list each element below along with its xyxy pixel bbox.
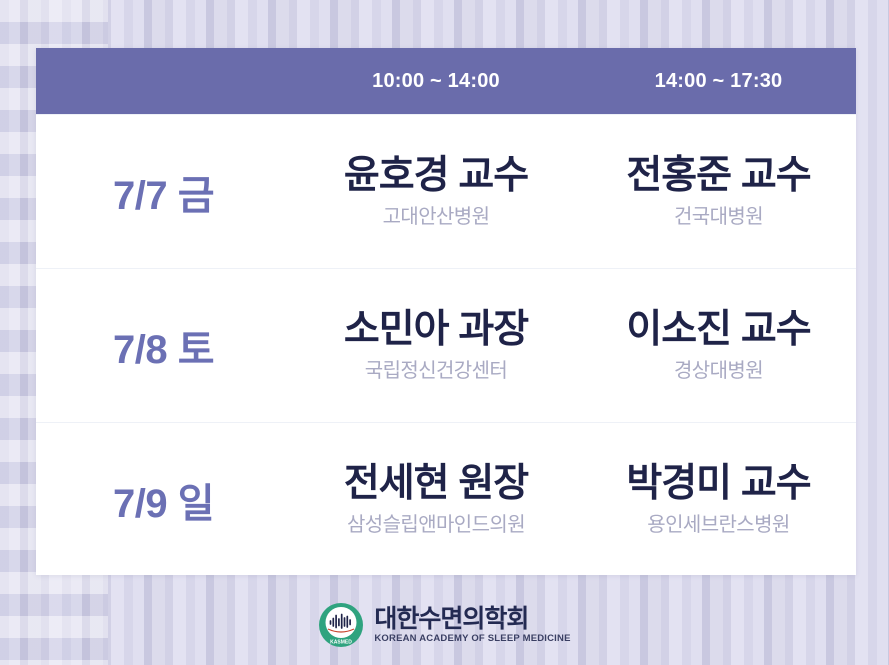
session-speaker: 전세현 원장 bbox=[344, 464, 528, 505]
session-affiliation: 삼성슬립앤마인드의원 bbox=[347, 515, 525, 535]
session-cell: 박경미 교수 용인세브란스병원 bbox=[581, 464, 856, 535]
logo-badge-text: KASMED bbox=[331, 640, 353, 646]
session-cell: 전세현 원장 삼성슬립앤마인드의원 bbox=[291, 464, 581, 535]
session-speaker: 박경미 교수 bbox=[626, 464, 810, 505]
schedule-row: 7/7 금 윤호경 교수 고대안산병원 전홍준 교수 건국대병원 bbox=[36, 114, 856, 268]
row-date: 7/8 토 bbox=[36, 317, 291, 375]
schedule-card: 10:00 ~ 14:00 14:00 ~ 17:30 7/7 금 윤호경 교수… bbox=[36, 48, 856, 575]
session-affiliation: 경상대병원 bbox=[674, 361, 763, 381]
header-timeslot-afternoon: 14:00 ~ 17:30 bbox=[581, 70, 856, 93]
schedule-row: 7/8 토 소민아 과장 국립정신건강센터 이소진 교수 경상대병원 bbox=[36, 268, 856, 422]
row-date: 7/7 금 bbox=[36, 163, 291, 221]
organization-name-en: KOREAN ACADEMY OF SLEEP MEDICINE bbox=[374, 634, 570, 644]
session-cell: 윤호경 교수 고대안산병원 bbox=[291, 156, 581, 227]
header-timeslot-morning: 10:00 ~ 14:00 bbox=[291, 70, 581, 93]
session-speaker: 전홍준 교수 bbox=[626, 156, 810, 197]
organization-name-ko: 대한수면의학회 bbox=[374, 607, 528, 632]
session-affiliation: 용인세브란스병원 bbox=[647, 515, 789, 535]
sleep-waveform-circle-icon: KASMED bbox=[318, 602, 364, 648]
session-speaker: 이소진 교수 bbox=[626, 310, 810, 351]
row-date: 7/9 일 bbox=[36, 471, 291, 529]
schedule-row: 7/9 일 전세현 원장 삼성슬립앤마인드의원 박경미 교수 용인세브란스병원 bbox=[36, 422, 856, 576]
session-affiliation: 건국대병원 bbox=[674, 207, 763, 227]
session-cell: 전홍준 교수 건국대병원 bbox=[581, 156, 856, 227]
session-cell: 이소진 교수 경상대병원 bbox=[581, 310, 856, 381]
footer-logo-block: KASMED 대한수면의학회 KOREAN ACADEMY OF SLEEP M… bbox=[0, 595, 889, 655]
session-affiliation: 고대안산병원 bbox=[383, 207, 490, 227]
schedule-header-row: 10:00 ~ 14:00 14:00 ~ 17:30 bbox=[36, 48, 856, 114]
logo-wordmark: 대한수면의학회 KOREAN ACADEMY OF SLEEP MEDICINE bbox=[374, 607, 570, 644]
session-speaker: 소민아 과장 bbox=[344, 310, 528, 351]
session-cell: 소민아 과장 국립정신건강센터 bbox=[291, 310, 581, 381]
session-affiliation: 국립정신건강센터 bbox=[365, 361, 507, 381]
session-speaker: 윤호경 교수 bbox=[344, 156, 528, 197]
